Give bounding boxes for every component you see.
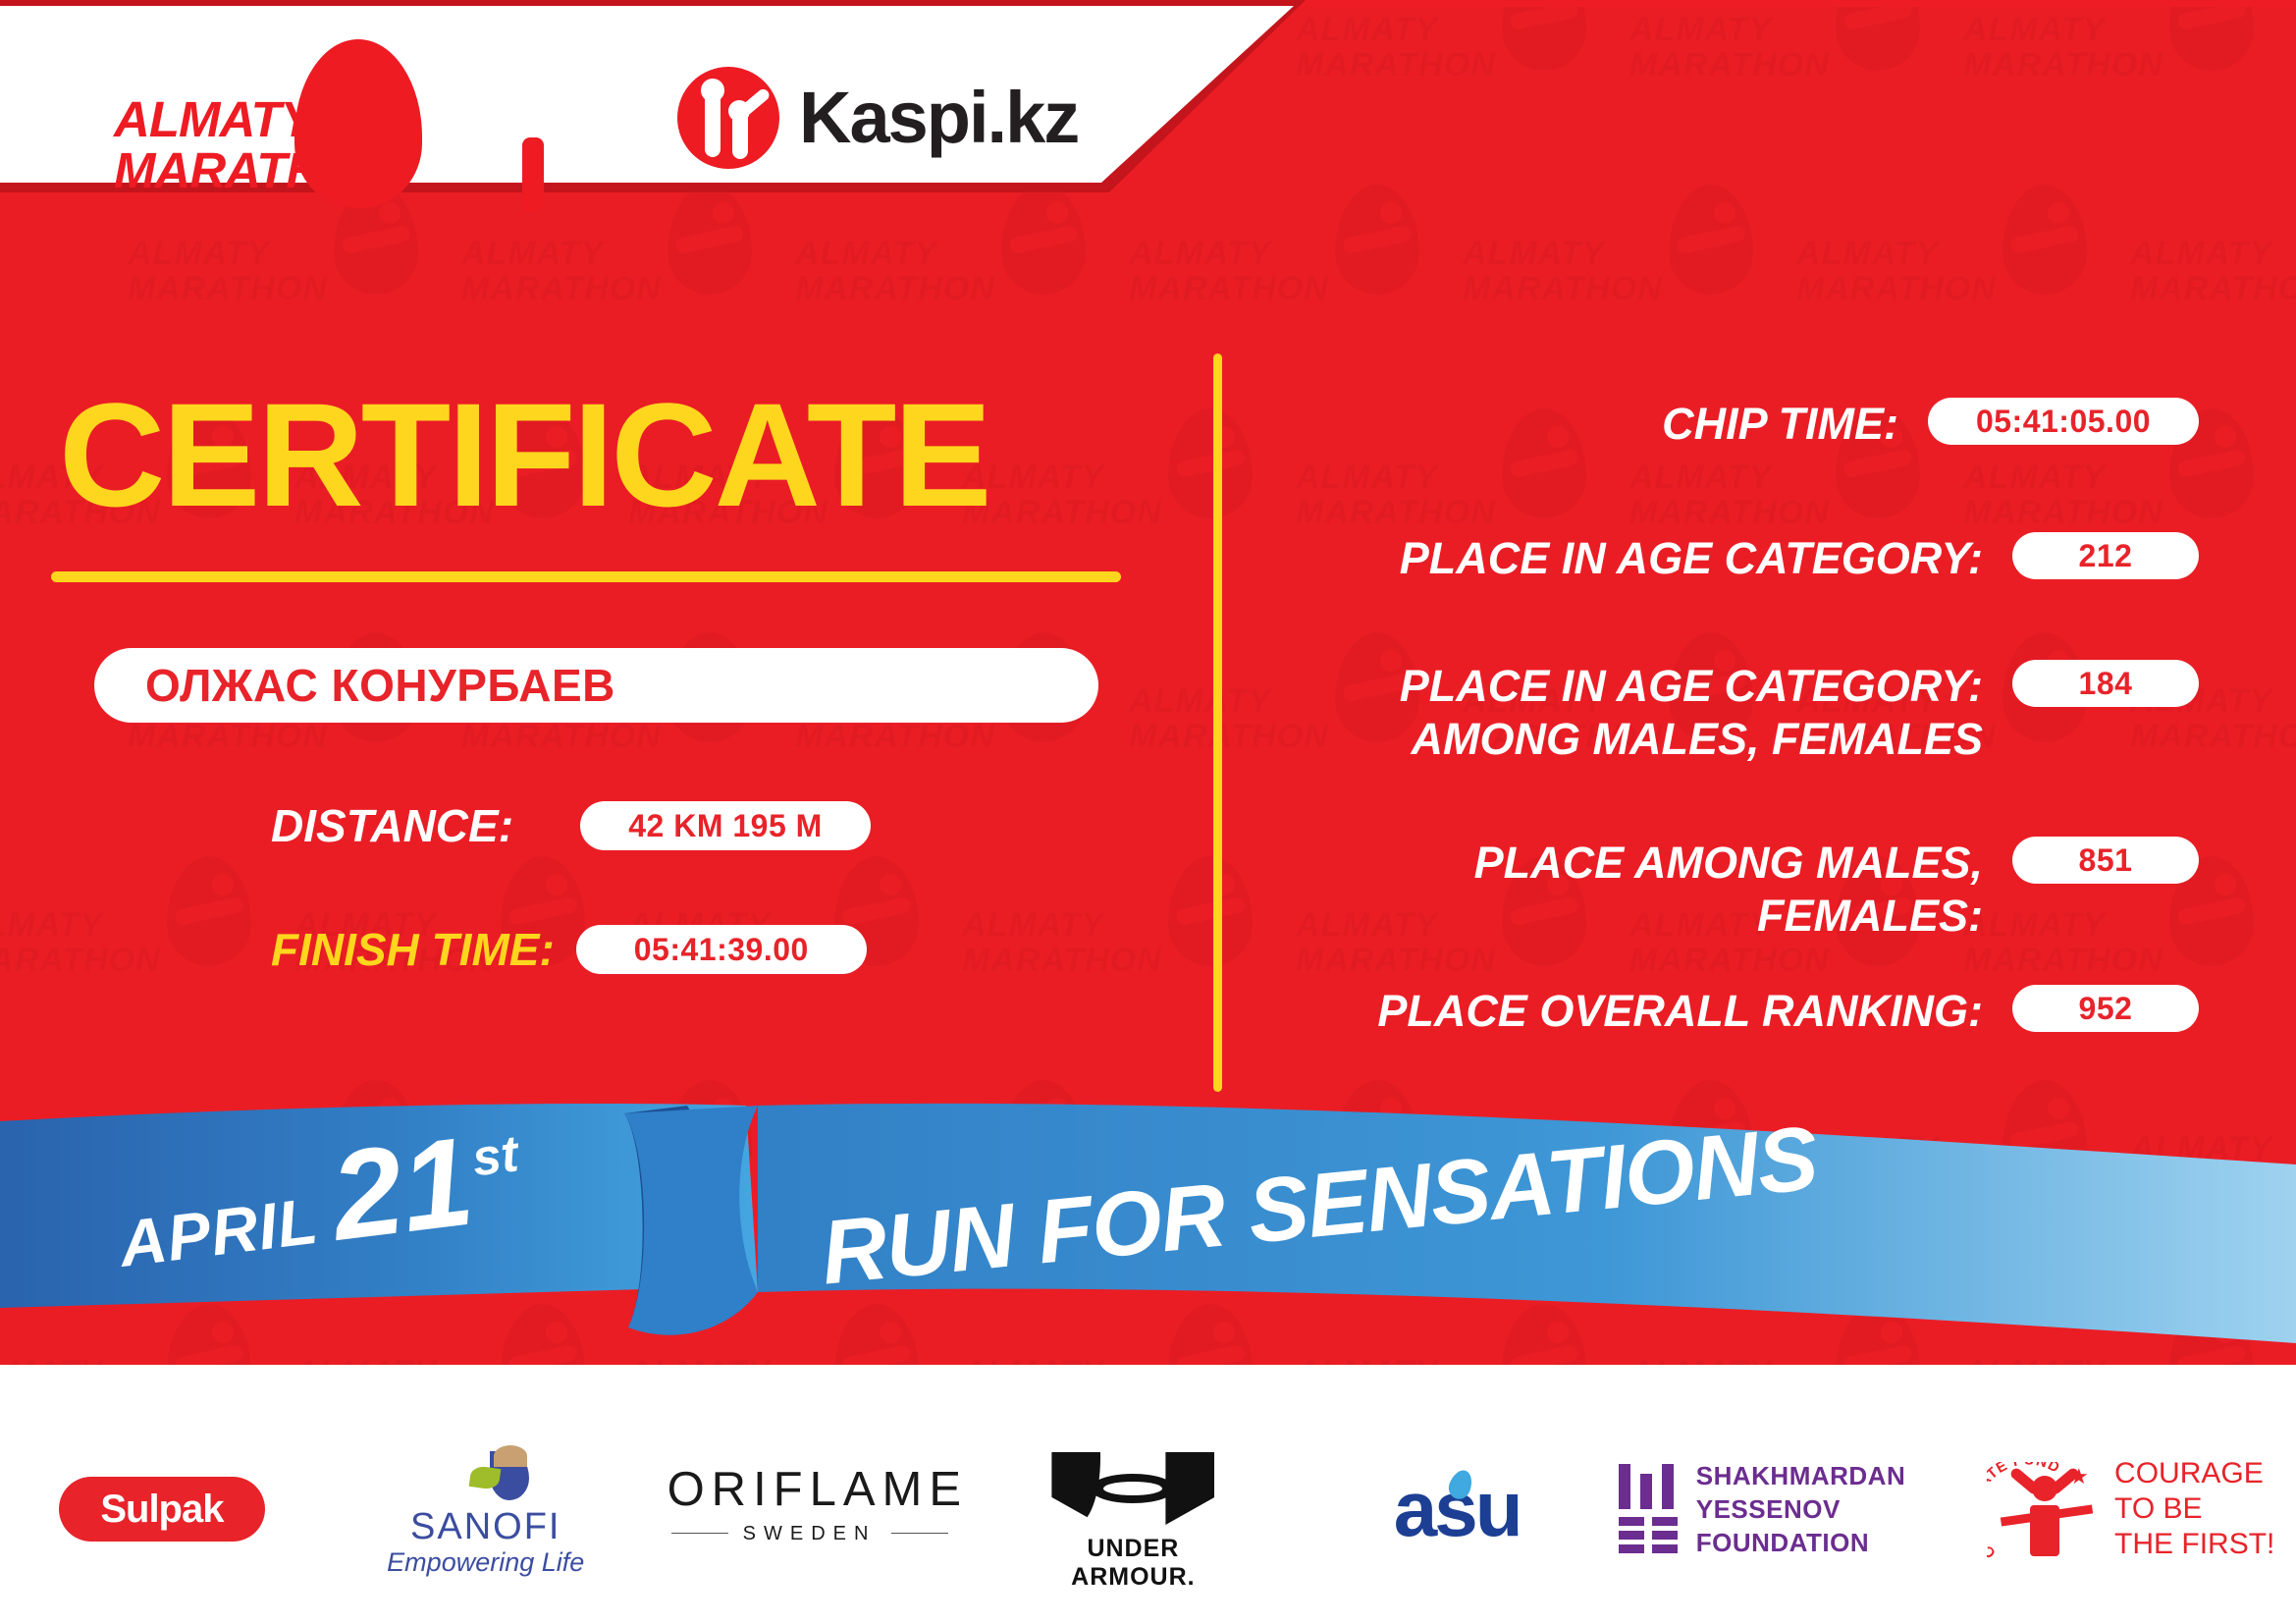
cf-line3: THE FIRST! (2114, 1527, 2274, 1562)
kaspi-logo: Kaspi.kz (677, 63, 1099, 181)
stat-value: 851 (2012, 837, 2199, 884)
cf-line2: TO BE (2114, 1491, 2274, 1527)
sponsor-yessenov-foundation: SHAKHMARDAN YESSENOV FOUNDATION (1619, 1421, 1972, 1597)
watermark-tile: ALMATYMARATHON (461, 185, 756, 371)
watermark-tile: ALMATYMARATHON (962, 856, 1256, 1043)
sponsor-oriflame: ORIFLAME SWEDEN (648, 1421, 972, 1597)
almaty-marathon-wordmark: ALMATY MARATHON (114, 94, 395, 196)
stat-label: PLACE OVERALL RANKING: (1377, 985, 1983, 1038)
watermark-tile: ALMATYMARATHON (1129, 185, 1423, 371)
almaty-line: ALMATY (114, 94, 395, 145)
watermark-tile: ALMATYMARATHON (128, 185, 422, 371)
yessenov-logo: SHAKHMARDAN YESSENOV FOUNDATION (1619, 1455, 1972, 1563)
distance-label: DISTANCE: (271, 799, 513, 852)
sponsor-sulpak: Sulpak (0, 1421, 324, 1597)
oriflame-subtext: SWEDEN (667, 1523, 952, 1545)
under-armour-wordmark: UNDER ARMOUR. (1030, 1535, 1236, 1592)
sanofi-tan-shape-icon (494, 1445, 527, 1467)
kaspi-head-adult-icon (701, 79, 724, 102)
stat-label: PLACE IN AGE CATEGORY: (1400, 532, 1983, 585)
event-day: 21 (326, 1127, 478, 1252)
stat-chip-time: CHIP TIME: 05:41:05.00 (1306, 398, 2199, 451)
stat-place-among-gender: PLACE AMONG MALES, FEMALES: 851 (1306, 837, 2199, 943)
stat-label: PLACE IN AGE CATEGORY: AMONG MALES, FEMA… (1400, 660, 1983, 766)
cf-runner-icon: CORPORATE FUND ★ (1987, 1454, 2105, 1564)
certificate-page: ALMATYMARATHONALMATYMARATHONALMATYMARATH… (0, 0, 2296, 1624)
finish-time-value: 05:41:39.00 (576, 925, 867, 974)
watermark-tile: ALMATYMARATHON (795, 185, 1090, 371)
sponsor-strip: Sulpak SANOFI Empowering Life ORIFLAME S… (0, 1394, 2296, 1624)
sulpak-logo: Sulpak (59, 1477, 265, 1542)
watermark-tile: ALMATYMARATHON (1463, 185, 1757, 371)
cf-head-icon (2032, 1476, 2057, 1501)
watermark-tile: ALMATYMARATHON (1796, 185, 2091, 371)
under-armour-glyph-icon (1051, 1452, 1214, 1525)
stat-value: 212 (2012, 532, 2199, 579)
athlete-name-field: ОЛЖАС КОНУРБАЕВ (94, 648, 1098, 723)
distance-value: 42 KM 195 M (580, 801, 871, 850)
cf-line1: COURAGE (2114, 1456, 2274, 1491)
header-content: ALMATY MARATHON Kaspi.kz (0, 6, 1294, 183)
kaspi-wordmark: Kaspi.kz (799, 77, 1078, 159)
watermark-tile: ALMATYMARATHON (1963, 0, 2258, 147)
yessenov-line2: FOUNDATION (1696, 1526, 1972, 1559)
stat-value: 05:41:05.00 (1928, 398, 2199, 445)
watermark-tile: ALMATYMARATHON (962, 408, 1256, 595)
kaspi-circle-icon (677, 67, 779, 169)
sanofi-mark-icon (468, 1445, 529, 1502)
stat-place-age-category-gender: PLACE IN AGE CATEGORY: AMONG MALES, FEMA… (1306, 660, 2199, 766)
stat-place-age-category: PLACE IN AGE CATEGORY: 212 (1306, 532, 2199, 585)
athlete-name-value: ОЛЖАС КОНУРБАЕВ (145, 659, 615, 712)
yessenov-line1: SHAKHMARDAN YESSENOV (1696, 1459, 1972, 1526)
stat-label: PLACE AMONG MALES, FEMALES: (1474, 837, 1983, 943)
sanofi-logo: SANOFI Empowering Life (378, 1445, 594, 1573)
sponsor-asu: asu (1295, 1421, 1619, 1597)
watermark-tile: ALMATYMARATHON (0, 856, 255, 1043)
sponsor-under-armour: UNDER ARMOUR. (971, 1421, 1295, 1597)
yessenov-bars-icon (1619, 1464, 1675, 1554)
under-armour-logo: UNDER ARMOUR. (1030, 1452, 1236, 1566)
oriflame-logo: ORIFLAME SWEDEN (667, 1462, 952, 1556)
watermark-tile: ALMATYMARATHON (1296, 0, 1590, 147)
stat-place-overall: PLACE OVERALL RANKING: 952 (1306, 985, 2199, 1038)
watermark-tile: ALMATYMARATHON (1629, 0, 1924, 147)
sponsor-sanofi: SANOFI Empowering Life (324, 1421, 648, 1597)
event-ribbon: APRIL 21 st RUN FOR SENSATIONS (0, 1100, 2296, 1394)
sanofi-wordmark: SANOFI (378, 1506, 594, 1548)
finish-time-label: FINISH TIME: (271, 923, 555, 976)
sponsor-corporate-fund: CORPORATE FUND ★ COURAGE TO BE THE FIRST… (1972, 1421, 2296, 1597)
distance-row: DISTANCE: 42 KM 195 M (271, 799, 871, 852)
oriflame-wordmark: ORIFLAME (667, 1462, 952, 1517)
vertical-divider (1213, 353, 1222, 1092)
ua-center-bar-icon (1091, 1474, 1175, 1503)
title-underline (51, 571, 1121, 582)
runner-leg2-icon (522, 137, 544, 212)
cf-wordmark: COURAGE TO BE THE FIRST! (2114, 1456, 2274, 1562)
stat-label: CHIP TIME: (1662, 398, 1898, 451)
finish-time-row: FINISH TIME: 05:41:39.00 (271, 923, 867, 976)
asu-logo: asu (1363, 1462, 1550, 1556)
stat-value: 952 (2012, 985, 2199, 1032)
page-title: CERTIFICATE (59, 381, 989, 528)
almaty-marathon-logo: ALMATY MARATHON (118, 43, 442, 181)
yessenov-wordmark: SHAKHMARDAN YESSENOV FOUNDATION (1696, 1459, 1972, 1559)
sanofi-tagline: Empowering Life (378, 1547, 594, 1578)
event-day-suffix: st (469, 1124, 521, 1188)
corporate-fund-logo: CORPORATE FUND ★ COURAGE TO BE THE FIRST… (1987, 1450, 2281, 1568)
watermark-tile: ALMATYMARATHON (2130, 185, 2296, 371)
event-month: APRIL (115, 1183, 322, 1281)
marathon-line: MARATHON (114, 145, 395, 196)
stat-value: 184 (2012, 660, 2199, 707)
